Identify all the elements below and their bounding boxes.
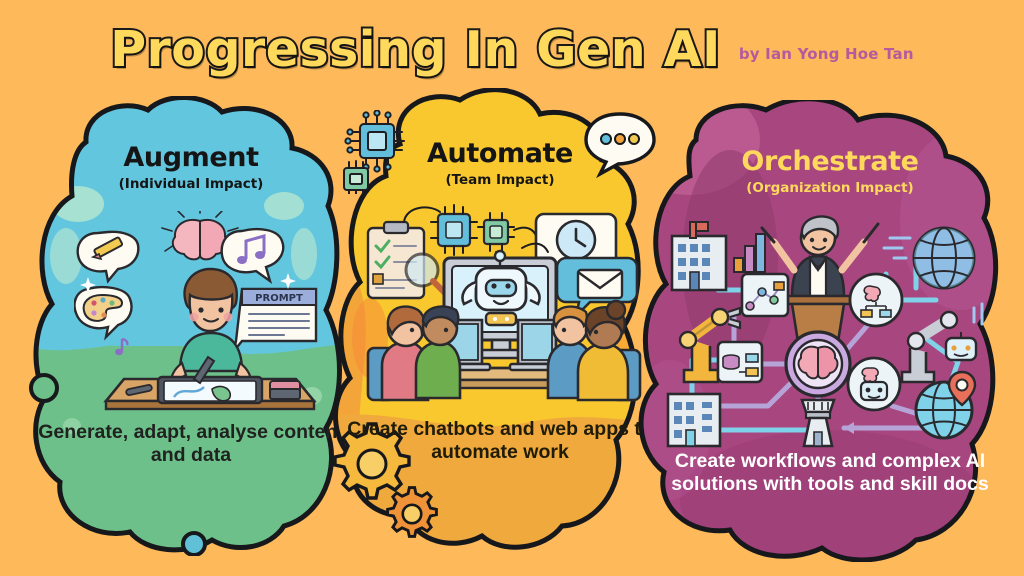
gear-icon [332, 416, 442, 546]
office-building-icon [672, 222, 726, 290]
flow-chart-icon [850, 274, 902, 326]
panel-orchestrate[interactable]: Orchestrate (Organization Impact) Create… [630, 100, 1024, 562]
robot-face-icon [848, 358, 900, 410]
robot-face-icon [946, 332, 976, 360]
page-title: Progressing In Gen AI [110, 21, 721, 78]
header: Progressing In Gen AI by Ian Yong Hoe Ta… [0, 14, 1024, 84]
database-icon [718, 342, 762, 382]
bar-chart-icon [734, 234, 765, 272]
globe-icon [914, 228, 974, 288]
augment-illustration: PROMPT [74, 211, 344, 411]
person-2 [416, 306, 460, 398]
scatter-chart-icon [742, 274, 788, 316]
music-note-bubble-icon [222, 229, 284, 281]
prompt-card-icon: PROMPT [234, 289, 316, 351]
office-building-icon [668, 394, 720, 446]
small-music-note-icon [115, 339, 127, 355]
palette-bubble-icon [75, 287, 132, 337]
panel-automate[interactable]: Automate (Team Impact) Create chatbots a… [330, 88, 670, 558]
orchestrate-illustration [658, 200, 988, 450]
desk-and-tablet [106, 357, 314, 409]
svg-text:PROMPT: PROMPT [255, 293, 303, 304]
byline: by Ian Yong Hoe Tan [739, 35, 914, 63]
pencil-bubble-icon [78, 232, 139, 281]
cpu-chip-icon [431, 205, 514, 255]
automate-illustration [360, 200, 650, 410]
infographic-canvas: Progressing In Gen AI by Ian Yong Hoe Ta… [0, 0, 1024, 576]
panel-augment[interactable]: PROMPT [26, 96, 356, 556]
brain-hub-icon [786, 332, 850, 396]
control-tower-icon [802, 400, 834, 446]
cpu-chip-icon [338, 110, 418, 194]
